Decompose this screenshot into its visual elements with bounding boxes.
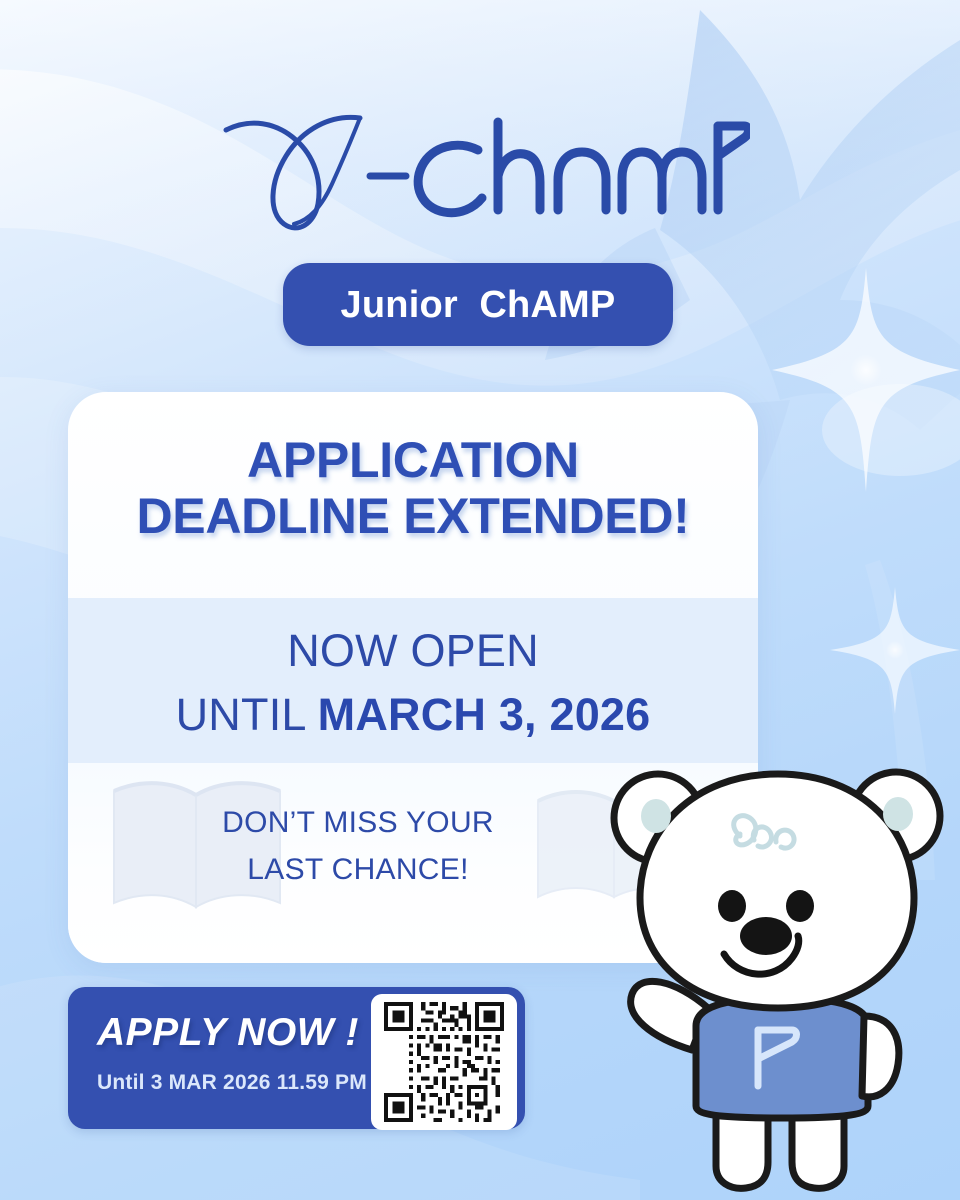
pill-label: Junior ChAMP — [341, 286, 616, 324]
subline-now-open: NOW OPEN — [68, 619, 758, 683]
apply-now-label: APPLY NOW ! — [97, 1011, 359, 1055]
junior-champ-pill[interactable]: Junior ChAMP — [283, 263, 673, 346]
j-champ-wordmark — [210, 104, 750, 244]
tagline-line-2: LAST CHANCE! — [68, 846, 648, 893]
brand-logo — [0, 104, 960, 244]
apply-now-button[interactable]: APPLY NOW ! Until 3 MAR 2026 11.59 PM — [68, 987, 525, 1129]
polar-bear-mascot — [596, 758, 960, 1200]
tagline-line-1: DON’T MISS YOUR — [68, 799, 648, 846]
subline-until-label: UNTIL — [176, 689, 318, 740]
subline-date: MARCH 3, 2026 — [318, 689, 651, 740]
tagline: DON’T MISS YOUR LAST CHANCE! — [68, 799, 648, 894]
subline-deadline: UNTIL MARCH 3, 2026 — [68, 683, 758, 747]
poster: Junior ChAMP APPLICATION DEADLINE — [0, 0, 960, 1200]
headline-line-1: APPLICATION — [68, 432, 758, 488]
apply-deadline-label: Until 3 MAR 2026 11.59 PM — [97, 1071, 367, 1095]
subline: NOW OPEN UNTIL MARCH 3, 2026 — [68, 619, 758, 747]
qr-code-image — [379, 1002, 509, 1122]
qr-code[interactable] — [371, 994, 517, 1130]
headline: APPLICATION DEADLINE EXTENDED! — [68, 432, 758, 544]
headline-line-2: DEADLINE EXTENDED! — [68, 488, 758, 544]
